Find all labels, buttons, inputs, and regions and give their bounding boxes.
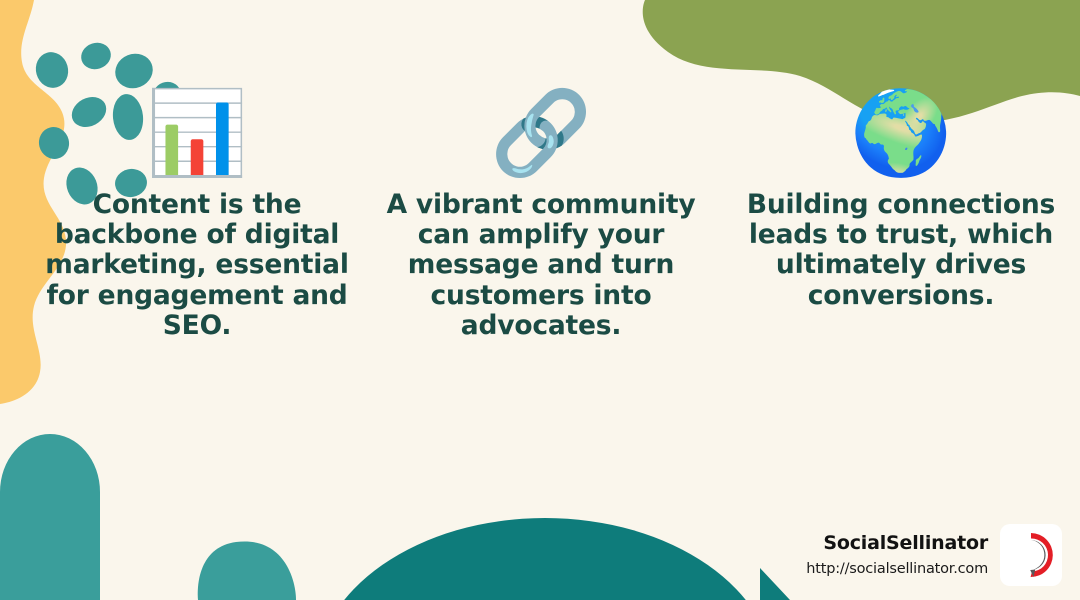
brand-text-block: SocialSellinator http://socialsellinator… [806,532,988,579]
chain-link-emoji: 🔗 [382,78,700,190]
info-column-1-text: Content is the backbone of digital marke… [32,190,362,341]
brand-footer: SocialSellinator http://socialsellinator… [806,524,1062,586]
info-column-1: 📊 Content is the backbone of digital mar… [32,78,362,341]
infographic-canvas: 📊 Content is the backbone of digital mar… [0,0,1080,600]
brand-logo[interactable] [1000,524,1062,586]
brand-name: SocialSellinator [806,532,988,556]
brand-url[interactable]: http://socialsellinator.com [806,560,988,578]
bar-chart-emoji: 📊 [32,78,362,190]
socialsellinator-logo-icon [1006,530,1056,580]
info-column-2-text: A vibrant community can amplify your mes… [382,190,700,341]
info-column-2: 🔗 A vibrant community can amplify your m… [382,78,700,341]
info-column-3: 🌍 Building connections leads to trust, w… [742,78,1060,311]
globe-emoji: 🌍 [742,78,1060,190]
columns-container: 📊 Content is the backbone of digital mar… [0,0,1080,600]
info-column-3-text: Building connections leads to trust, whi… [742,190,1060,311]
